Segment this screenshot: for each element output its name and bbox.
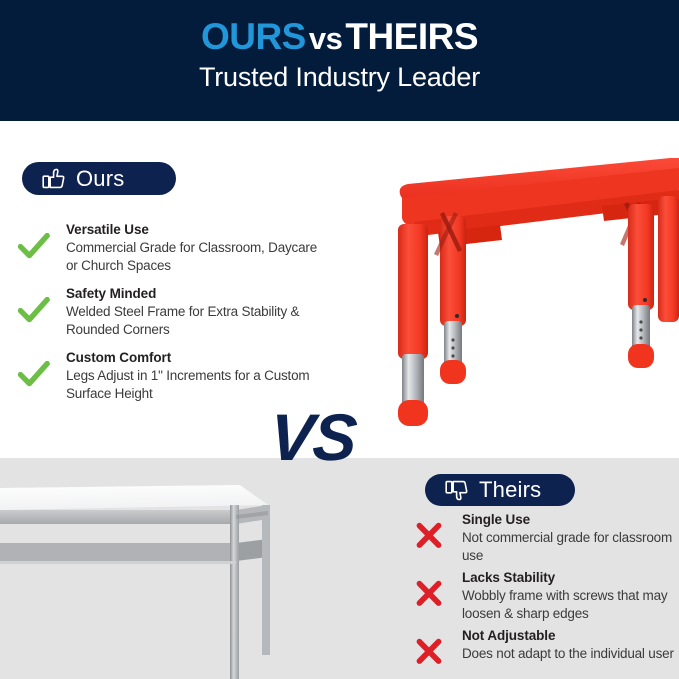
thumbs-up-icon <box>42 168 65 189</box>
feature-title: Lacks Stability <box>462 569 679 587</box>
feature-title: Custom Comfort <box>66 349 318 367</box>
theirs-feature-list: Single Use Not commercial grade for clas… <box>415 511 679 669</box>
list-item: Custom Comfort Legs Adjust in 1" Increme… <box>18 349 318 403</box>
feature-description: Commercial Grade for Classroom, Daycare … <box>66 239 318 275</box>
feature-title: Single Use <box>462 511 679 529</box>
feature-title: Versatile Use <box>66 221 318 239</box>
theirs-badge-label: Theirs <box>479 477 541 503</box>
feature-title: Not Adjustable <box>462 627 679 645</box>
x-icon <box>415 627 462 665</box>
list-item: Single Use Not commercial grade for clas… <box>415 511 679 565</box>
ours-badge: Ours <box>22 162 176 195</box>
title-theirs-word: THEIRS <box>345 16 478 57</box>
list-item: Not Adjustable Does not adapt to the ind… <box>415 627 679 665</box>
title-vs-word: vs <box>306 21 345 56</box>
check-icon <box>18 349 66 388</box>
thumbs-down-icon <box>445 480 468 501</box>
feature-title: Safety Minded <box>66 285 318 303</box>
ours-badge-label: Ours <box>76 166 124 192</box>
feature-description: Wobbly frame with screws that may loosen… <box>462 587 679 623</box>
check-icon <box>18 221 66 260</box>
list-item: Lacks Stability Wobbly frame with screws… <box>415 569 679 623</box>
comparison-infographic: OURSvsTHEIRS Trusted Industry Leader <box>0 0 679 679</box>
x-icon <box>415 511 462 549</box>
feature-description: Not commercial grade for classroom use <box>462 529 679 565</box>
list-item: Versatile Use Commercial Grade for Class… <box>18 221 318 275</box>
page-title: OURSvsTHEIRS <box>0 18 679 57</box>
title-ours-word: OURS <box>201 16 306 57</box>
page-subtitle: Trusted Industry Leader <box>0 62 679 93</box>
ours-product-image <box>340 128 679 430</box>
theirs-product-image <box>0 455 282 679</box>
feature-description: Does not adapt to the individual user <box>462 645 679 663</box>
feature-description: Welded Steel Frame for Extra Stability &… <box>66 303 318 339</box>
feature-description: Legs Adjust in 1" Increments for a Custo… <box>66 367 318 403</box>
x-icon <box>415 569 462 607</box>
check-icon <box>18 285 66 324</box>
ours-feature-list: Versatile Use Commercial Grade for Class… <box>18 221 318 413</box>
header-banner: OURSvsTHEIRS Trusted Industry Leader <box>0 0 679 121</box>
list-item: Safety Minded Welded Steel Frame for Ext… <box>18 285 318 339</box>
vs-divider-label: VS <box>268 404 359 470</box>
theirs-badge: Theirs <box>425 474 575 506</box>
